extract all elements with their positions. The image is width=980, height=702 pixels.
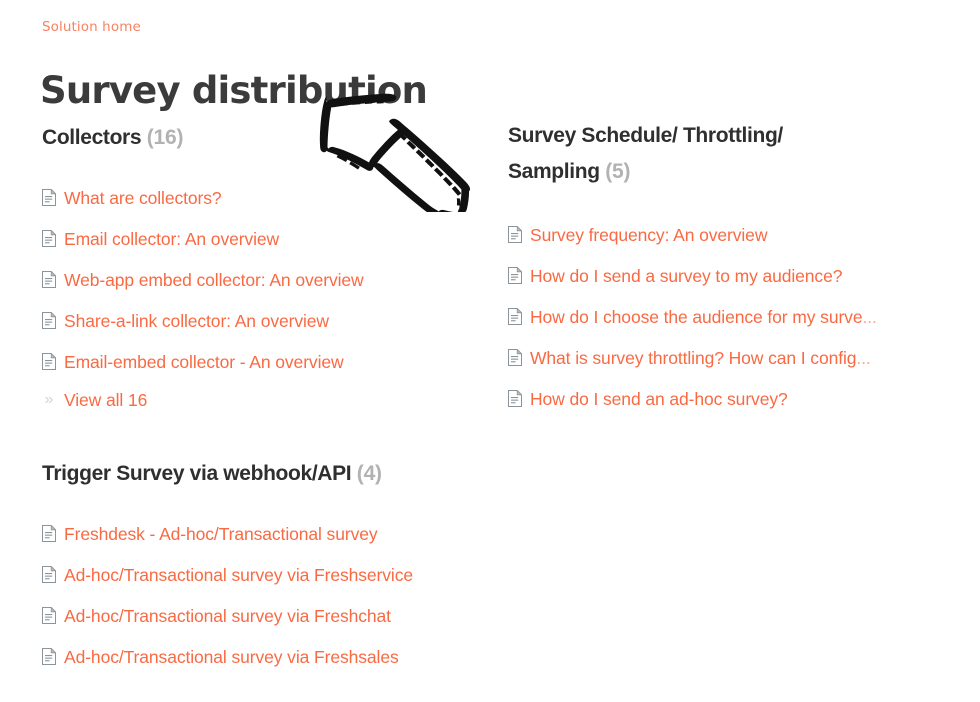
article-list-schedule: Survey frequency: An overview How do I s… <box>508 214 878 419</box>
article-list-collectors: What are collectors? Email collector: An… <box>42 177 364 418</box>
section-collectors: Collectors (16) What are collectors? <box>42 120 364 418</box>
document-icon <box>42 607 56 624</box>
document-icon <box>508 226 522 243</box>
article-title: Survey frequency: An overview <box>530 225 767 245</box>
article-title: How do I choose the audience for my surv… <box>530 307 862 327</box>
list-item[interactable]: Email-embed collector - An overview <box>42 341 364 382</box>
document-icon <box>42 312 56 329</box>
document-icon <box>42 189 56 206</box>
article-link[interactable]: Share-a-link collector: An overview <box>64 310 329 332</box>
article-title: What is survey throttling? How can I con… <box>530 348 856 368</box>
list-item[interactable]: Web-app embed collector: An overview <box>42 259 364 300</box>
article-link[interactable]: How do I send a survey to my audience? <box>530 265 842 287</box>
section-heading-collectors: Collectors (16) <box>42 120 364 156</box>
document-icon <box>508 390 522 407</box>
list-item[interactable]: How do I send a survey to my audience? <box>508 255 878 296</box>
list-item[interactable]: Ad-hoc/Transactional survey via Freshser… <box>42 554 413 595</box>
article-link[interactable]: What is survey throttling? How can I con… <box>530 347 871 369</box>
list-item[interactable]: Survey frequency: An overview <box>508 214 878 255</box>
section-title: Survey Schedule/ Throttling/ Sampling <box>508 124 783 183</box>
article-link[interactable]: Survey frequency: An overview <box>530 224 767 246</box>
section-count: (4) <box>357 462 382 485</box>
list-item[interactable]: Ad-hoc/Transactional survey via Freshsal… <box>42 636 413 677</box>
double-chevron-right-icon: » <box>42 391 56 409</box>
section-heading-webhook: Trigger Survey via webhook/API (4) <box>42 456 413 492</box>
article-list-webhook: Freshdesk - Ad-hoc/Transactional survey … <box>42 513 413 677</box>
document-icon <box>42 648 56 665</box>
document-icon <box>42 353 56 370</box>
list-item[interactable]: Freshdesk - Ad-hoc/Transactional survey <box>42 513 413 554</box>
list-item[interactable]: Email collector: An overview <box>42 218 364 259</box>
section-survey-schedule-throttling-sampling: Survey Schedule/ Throttling/ Sampling (5… <box>508 118 878 419</box>
document-icon <box>42 271 56 288</box>
truncation-ellipsis: ... <box>862 307 876 327</box>
view-all-row[interactable]: » View all 16 <box>42 382 364 418</box>
list-item[interactable]: How do I send an ad-hoc survey? <box>508 378 878 419</box>
article-link[interactable]: How do I send an ad-hoc survey? <box>530 388 788 410</box>
list-item[interactable]: Share-a-link collector: An overview <box>42 300 364 341</box>
section-count: (5) <box>605 160 630 183</box>
section-count: (16) <box>147 126 184 149</box>
document-icon <box>508 267 522 284</box>
truncation-ellipsis: ... <box>856 348 870 368</box>
article-link[interactable]: How do I choose the audience for my surv… <box>530 306 877 328</box>
article-link[interactable]: Web-app embed collector: An overview <box>64 269 364 291</box>
document-icon <box>508 349 522 366</box>
article-link[interactable]: Ad-hoc/Transactional survey via Freshser… <box>64 564 413 586</box>
article-link[interactable]: What are collectors? <box>64 187 222 209</box>
list-item[interactable]: What is survey throttling? How can I con… <box>508 337 878 378</box>
article-title: How do I send a survey to my audience? <box>530 266 842 286</box>
list-item[interactable]: How do I choose the audience for my surv… <box>508 296 878 337</box>
document-icon <box>42 230 56 247</box>
article-link[interactable]: Freshdesk - Ad-hoc/Transactional survey <box>64 523 378 545</box>
article-link[interactable]: Ad-hoc/Transactional survey via Freshsal… <box>64 646 399 668</box>
article-link[interactable]: Email-embed collector - An overview <box>64 351 344 373</box>
page-title: Survey distribution <box>40 68 427 114</box>
view-all-link[interactable]: View all 16 <box>64 389 147 411</box>
article-title: How do I send an ad-hoc survey? <box>530 389 788 409</box>
section-trigger-survey-webhook-api: Trigger Survey via webhook/API (4) Fresh… <box>42 456 413 677</box>
section-heading-schedule: Survey Schedule/ Throttling/ Sampling (5… <box>508 118 878 190</box>
breadcrumb-solution-home[interactable]: Solution home <box>42 19 141 36</box>
article-link[interactable]: Ad-hoc/Transactional survey via Freshcha… <box>64 605 391 627</box>
section-title: Trigger Survey via webhook/API <box>42 462 351 485</box>
list-item[interactable]: What are collectors? <box>42 177 364 218</box>
solution-article-page: Solution home Survey distribution <box>0 0 980 702</box>
section-title: Collectors <box>42 126 141 149</box>
article-link[interactable]: Email collector: An overview <box>64 228 279 250</box>
document-icon <box>42 566 56 583</box>
document-icon <box>42 525 56 542</box>
list-item[interactable]: Ad-hoc/Transactional survey via Freshcha… <box>42 595 413 636</box>
document-icon <box>508 308 522 325</box>
